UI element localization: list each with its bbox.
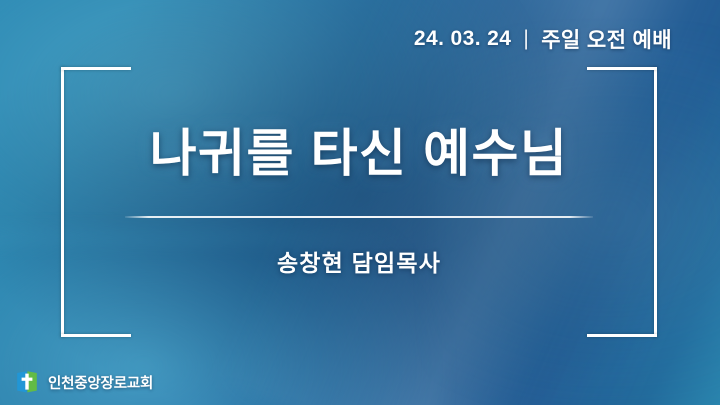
church-name-label: 인천중앙장로교회 bbox=[48, 372, 153, 393]
church-cross-logo-icon bbox=[14, 369, 40, 395]
service-name: 주일 오전 예배 bbox=[541, 24, 672, 54]
title-divider bbox=[125, 216, 593, 218]
sermon-title: 나귀를 타신 예수님 bbox=[150, 126, 569, 181]
slide-content: 나귀를 타신 예수님 송창현 담임목사 bbox=[61, 67, 657, 337]
header-separator: | bbox=[522, 27, 530, 51]
service-date: 24. 03. 24 bbox=[414, 27, 511, 51]
header-info: 24. 03. 24 | 주일 오전 예배 bbox=[414, 24, 672, 54]
preacher-name: 송창현 담임목사 bbox=[277, 244, 441, 278]
church-branding: 인천중앙장로교회 bbox=[14, 369, 153, 395]
sermon-title-slide: 24. 03. 24 | 주일 오전 예배 나귀를 타신 예수님 송창현 담임목… bbox=[0, 0, 720, 405]
